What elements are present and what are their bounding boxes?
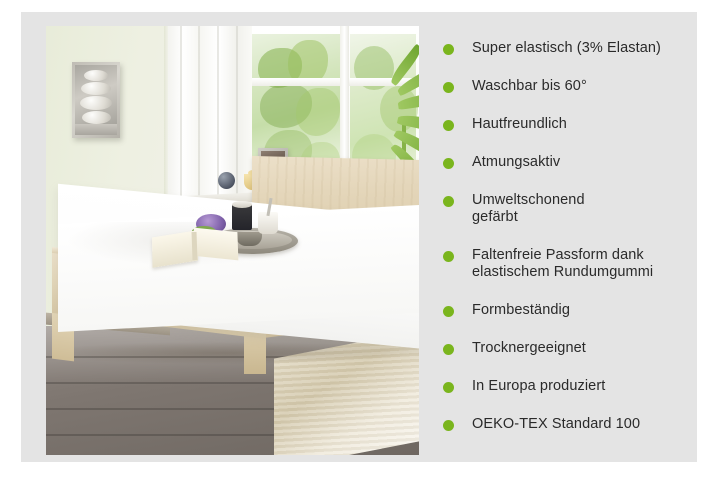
bullet-icon [443,306,454,317]
feature-label: Atmungsaktiv [472,154,560,171]
decor-sphere [218,172,235,189]
feature-label: Umweltschonend gefärbt [472,192,585,226]
product-feature-stage: Super elastisch (3% Elastan) Waschbar bi… [0,0,720,480]
bullet-icon [443,196,454,207]
feature-label: Faltenfreie Passform dank elastischem Ru… [472,247,653,281]
list-item: Atmungsaktiv [443,154,683,171]
bullet-icon [443,44,454,55]
feature-label: Waschbar bis 60° [472,78,587,95]
bullet-icon [443,158,454,169]
feature-label: In Europa produziert [472,378,605,395]
feature-label: Hautfreundlich [472,116,567,133]
stone-icon [84,70,108,81]
feature-label: Formbeständig [472,302,570,319]
open-book-right-page [194,228,239,261]
bullet-icon [443,382,454,393]
list-item: Formbeständig [443,302,683,319]
list-item: Trocknergeeignet [443,340,683,357]
feature-label: Trocknergeeignet [472,340,586,357]
product-photo [46,26,419,455]
bullet-icon [443,82,454,93]
feature-list: Super elastisch (3% Elastan) Waschbar bi… [443,40,683,454]
bullet-icon [443,420,454,431]
bullet-icon [443,251,454,262]
feature-label: Super elastisch (3% Elastan) [472,40,661,57]
open-book-spine [192,232,198,260]
stone-icon [80,96,112,110]
stone-icon [81,82,111,95]
list-item: Waschbar bis 60° [443,78,683,95]
list-item: Hautfreundlich [443,116,683,133]
bullet-icon [443,344,454,355]
decor-bowl [236,232,262,246]
feature-label: OEKO-TEX Standard 100 [472,416,640,433]
list-item: Umweltschonend gefärbt [443,192,683,226]
bed-shadow [72,342,412,364]
list-item: Faltenfreie Passform dank elastischem Ru… [443,247,683,281]
candle-wax-top [232,201,252,208]
list-item: In Europa produziert [443,378,683,395]
list-item: Super elastisch (3% Elastan) [443,40,683,57]
stone-icon [82,111,111,124]
list-item: OEKO-TEX Standard 100 [443,416,683,433]
bullet-icon [443,120,454,131]
wall-art-base [75,124,117,135]
